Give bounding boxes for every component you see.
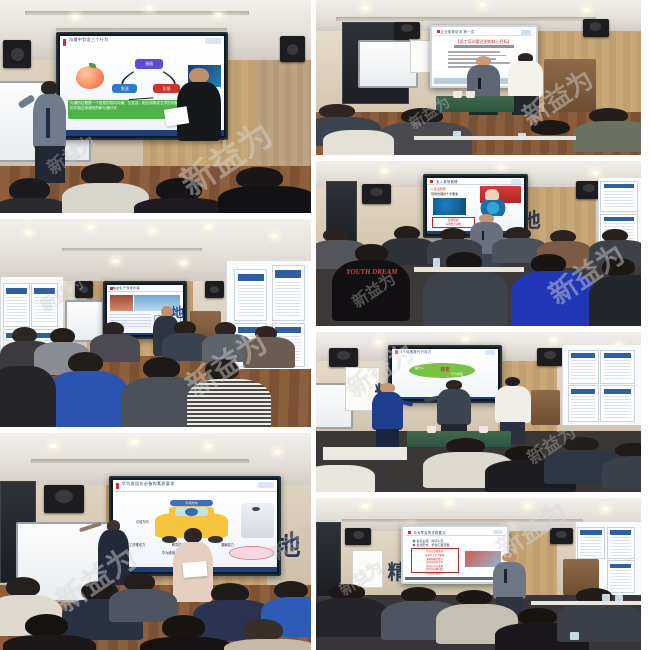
- collage-column-right: 企业管理培训 第一讲 【员工培训要达到的核心目标】: [316, 0, 641, 650]
- slide-title: 沟通中包含三个行为: [69, 37, 109, 43]
- photo-right-3[interactable]: 精 3个转换提升行动力 转变 提升人 行为转变: [316, 332, 641, 492]
- slide-bubble: 转变: [440, 367, 449, 373]
- photo-right-4[interactable]: 精 华为早会的流程要点 ◉ 会议主题、时间人员 ◉ 会议形: [316, 498, 641, 650]
- slide-title: 华为早会的流程要点: [414, 530, 446, 535]
- slide-title: 华为班组长必备的素质要求: [122, 481, 175, 487]
- slide-title: 走入现场管理: [436, 179, 458, 184]
- slide-label-cohesion: 凝聚能力: [221, 542, 234, 547]
- photo-left-2[interactable]: 精益生产现场管理 地: [0, 219, 311, 427]
- photo-right-2[interactable]: 地 走入现场管理 ● 走出现场 现场管理的十字要素: [316, 161, 641, 326]
- collage-column-left: 地 沟通中包含三个行为 接收 发送 反馈: [0, 0, 311, 650]
- slide-headline: 【员工培训要达到的核心目标】: [448, 39, 520, 44]
- slide-title: 精益生产现场管理: [113, 286, 140, 290]
- slide-title: 企业管理培训 第一讲: [441, 29, 475, 34]
- slide-label-direction: 引领方向: [136, 519, 149, 524]
- photo-right-1[interactable]: 企业管理培训 第一讲 【员工培训要达到的核心目标】: [316, 0, 641, 155]
- slide-label-work: 工作推动力: [129, 542, 145, 547]
- youth-dream-shirt: YOUTH DREAM: [332, 260, 410, 321]
- photo-left-3[interactable]: 地 华为班组长必备的素质要求: [0, 433, 311, 650]
- photo-collage: 地 沟通中包含三个行为 接收 发送 反馈: [0, 0, 650, 650]
- slide-roof-label: 引领方向: [170, 500, 213, 506]
- photo-left-1[interactable]: 地 沟通中包含三个行为 接收 发送 反馈: [0, 0, 311, 213]
- slide-title: 3个转换提升行动力: [401, 349, 432, 354]
